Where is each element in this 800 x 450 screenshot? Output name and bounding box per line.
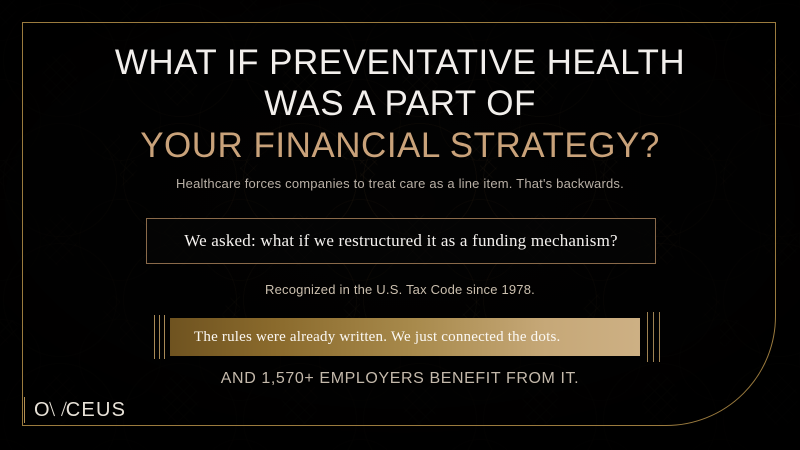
slide-canvas: WHAT IF PREVENTATIVE HEALTH WAS A PART O…: [0, 0, 800, 450]
logo-wordmark: O CEUS: [34, 399, 126, 422]
subtitle-text: Healthcare forces companies to treat car…: [0, 176, 800, 191]
page-title: WHAT IF PREVENTATIVE HEALTH WAS A PART O…: [0, 42, 800, 166]
highlight-bar-text: The rules were already written. We just …: [170, 329, 560, 346]
question-callout-box: We asked: what if we restructured it as …: [146, 218, 656, 264]
vertical-lines-left-icon: [150, 315, 170, 359]
highlight-bar: The rules were already written. We just …: [170, 318, 640, 356]
logo-lambda-icon: [52, 401, 65, 416]
logo-divider-rule: [24, 397, 25, 423]
headline-line-1: WHAT IF PREVENTATIVE HEALTH: [0, 42, 800, 83]
vertical-lines-right-icon: [644, 312, 672, 362]
tax-code-note: Recognized in the U.S. Tax Code since 19…: [0, 282, 800, 297]
employer-stat-line: AND 1,570+ EMPLOYERS BENEFIT FROM IT.: [0, 370, 800, 388]
highlight-bar-group: The rules were already written. We just …: [150, 318, 690, 356]
logo-suffix: CEUS: [66, 399, 126, 422]
question-callout-text: We asked: what if we restructured it as …: [184, 231, 618, 251]
brand-logo: O CEUS: [24, 396, 126, 424]
headline-line-2: WAS A PART OF: [0, 83, 800, 124]
headline-line-3-accent: YOUR FINANCIAL STRATEGY?: [0, 125, 800, 166]
